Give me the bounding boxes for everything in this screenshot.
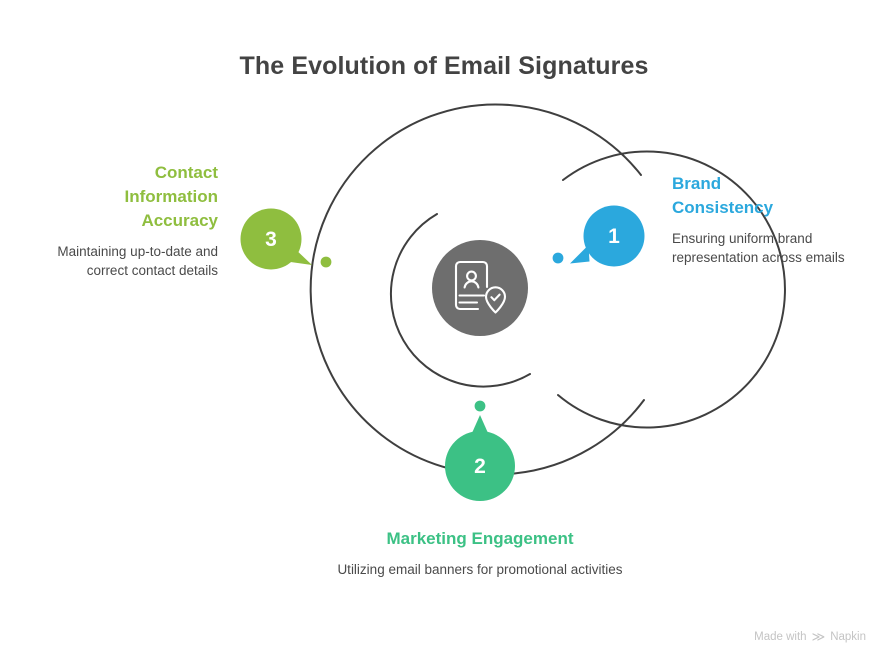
heading-line-2: Information bbox=[125, 187, 219, 206]
bubble-2-number: 2 bbox=[455, 456, 505, 477]
bubble-3-number: 3 bbox=[246, 229, 296, 250]
heading-line-1: Contact bbox=[155, 163, 218, 182]
heading-line-2: Consistency bbox=[672, 198, 773, 217]
napkin-logo-icon: ≫ bbox=[812, 630, 826, 643]
center-circle bbox=[432, 240, 528, 336]
label-marketing-engagement: Marketing Engagement Utilizing email ban… bbox=[300, 527, 660, 579]
label-brand-consistency-body: Ensuring uniform brand representation ac… bbox=[672, 229, 850, 267]
green-node-dot bbox=[475, 401, 486, 412]
label-brand-consistency-heading: Brand Consistency bbox=[672, 172, 850, 220]
label-marketing-engagement-heading: Marketing Engagement bbox=[300, 527, 660, 551]
heading-line-3: Accuracy bbox=[141, 211, 218, 230]
label-marketing-engagement-body: Utilizing email banners for promotional … bbox=[300, 560, 660, 579]
label-contact-information-accuracy-body: Maintaining up-to-date and correct conta… bbox=[36, 242, 218, 280]
label-brand-consistency: Brand Consistency Ensuring uniform brand… bbox=[672, 172, 850, 267]
olive-node-dot bbox=[321, 257, 332, 268]
watermark-text: Made with bbox=[754, 631, 806, 643]
label-contact-information-accuracy-heading: Contact Information Accuracy bbox=[36, 161, 218, 233]
heading-line-1: Brand bbox=[672, 174, 721, 193]
watermark-brand: Napkin bbox=[830, 631, 866, 643]
watermark: Made with ≫ Napkin bbox=[754, 630, 866, 643]
bubble-1-number: 1 bbox=[589, 226, 639, 247]
blue-node-dot bbox=[553, 253, 564, 264]
label-contact-information-accuracy: Contact Information Accuracy Maintaining… bbox=[36, 161, 218, 280]
